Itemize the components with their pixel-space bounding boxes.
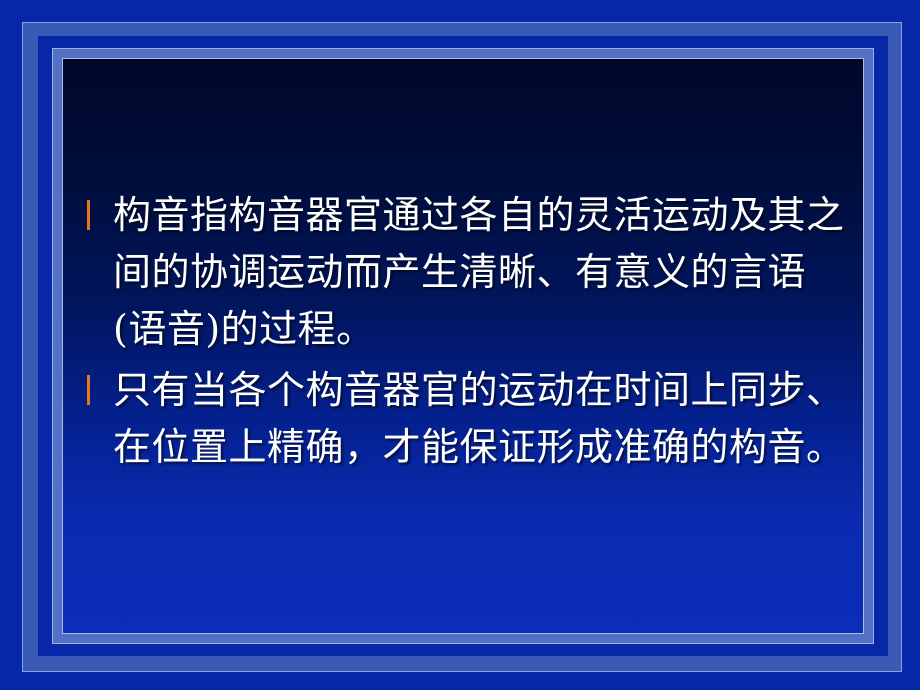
bullet-text: 只有当各个构音器官的运动在时间上同步、在位置上精确，才能保证形成准确的构音。 <box>113 362 855 476</box>
slide-content-area: 构音指构音器官通过各自的灵活运动及其之间的协调运动而产生清晰、有意义的言语(语音… <box>63 59 863 633</box>
list-item[interactable]: 只有当各个构音器官的运动在时间上同步、在位置上精确，才能保证形成准确的构音。 <box>75 362 855 476</box>
list-item[interactable]: 构音指构音器官通过各自的灵活运动及其之间的协调运动而产生清晰、有意义的言语(语音… <box>75 187 855 358</box>
presentation-slide: 构音指构音器官通过各自的灵活运动及其之间的协调运动而产生清晰、有意义的言语(语音… <box>0 0 920 690</box>
bullet-text: 构音指构音器官通过各自的灵活运动及其之间的协调运动而产生清晰、有意义的言语(语音… <box>113 187 855 358</box>
orange-bar-bullet-icon <box>87 375 90 405</box>
orange-bar-bullet-icon <box>87 200 90 230</box>
bullet-list: 构音指构音器官通过各自的灵活运动及其之间的协调运动而产生清晰、有意义的言语(语音… <box>75 187 855 480</box>
